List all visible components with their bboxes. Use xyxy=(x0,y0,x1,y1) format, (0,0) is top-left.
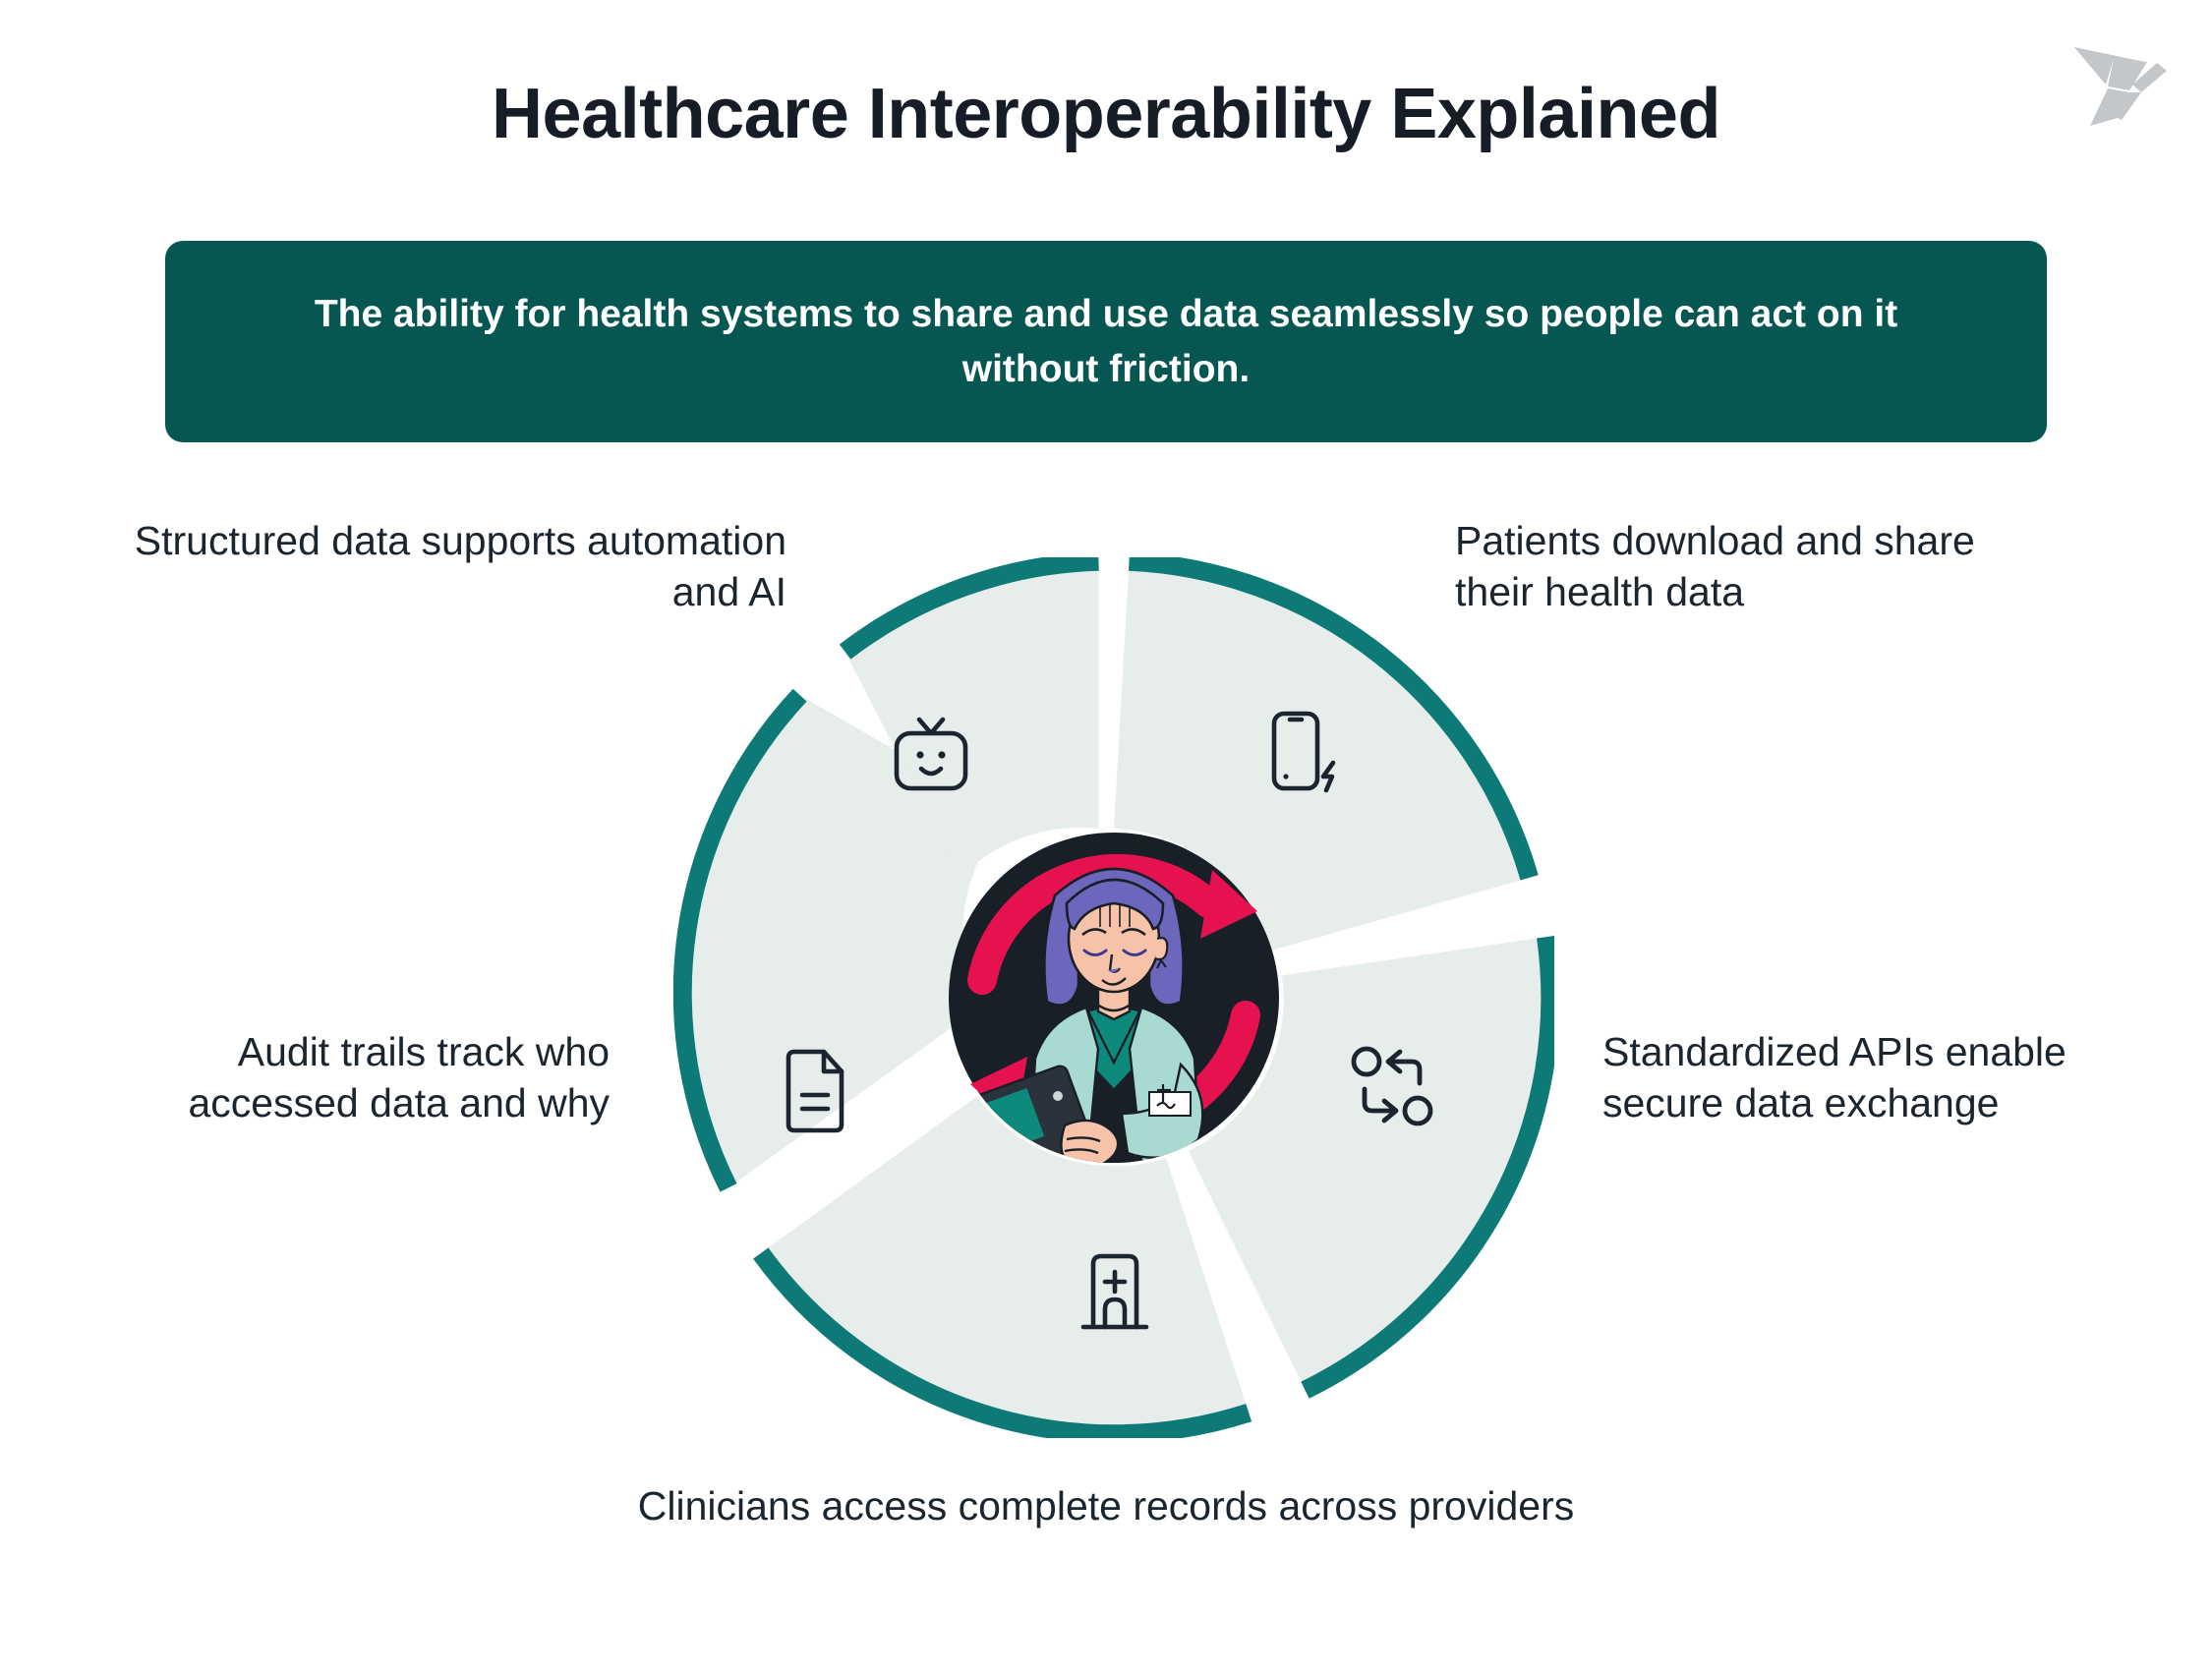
label-structured-data: Structured data supports automation and … xyxy=(118,515,786,618)
smartphone-icon xyxy=(1256,706,1351,800)
definition-text: The ability for health systems to share … xyxy=(260,287,1952,396)
robot-icon xyxy=(884,708,978,802)
hospital-icon xyxy=(1068,1244,1162,1339)
label-standardized-apis: Standardized APIs enable secure data exc… xyxy=(1602,1026,2084,1129)
label-clinicians-access: Clinicians access complete records acros… xyxy=(0,1480,2212,1531)
infographic-canvas: Healthcare Interoperability Explained Th… xyxy=(0,0,2212,1672)
page-title: Healthcare Interoperability Explained xyxy=(0,77,2212,153)
label-patients-download: Patients download and share their health… xyxy=(1455,515,2045,618)
definition-banner: The ability for health systems to share … xyxy=(165,241,2047,442)
label-audit-trails: Audit trails track who accessed data and… xyxy=(59,1026,610,1129)
data-exchange-icon xyxy=(1345,1040,1439,1134)
document-icon xyxy=(767,1044,861,1138)
clinician-with-tablet-illustration xyxy=(917,801,1310,1194)
